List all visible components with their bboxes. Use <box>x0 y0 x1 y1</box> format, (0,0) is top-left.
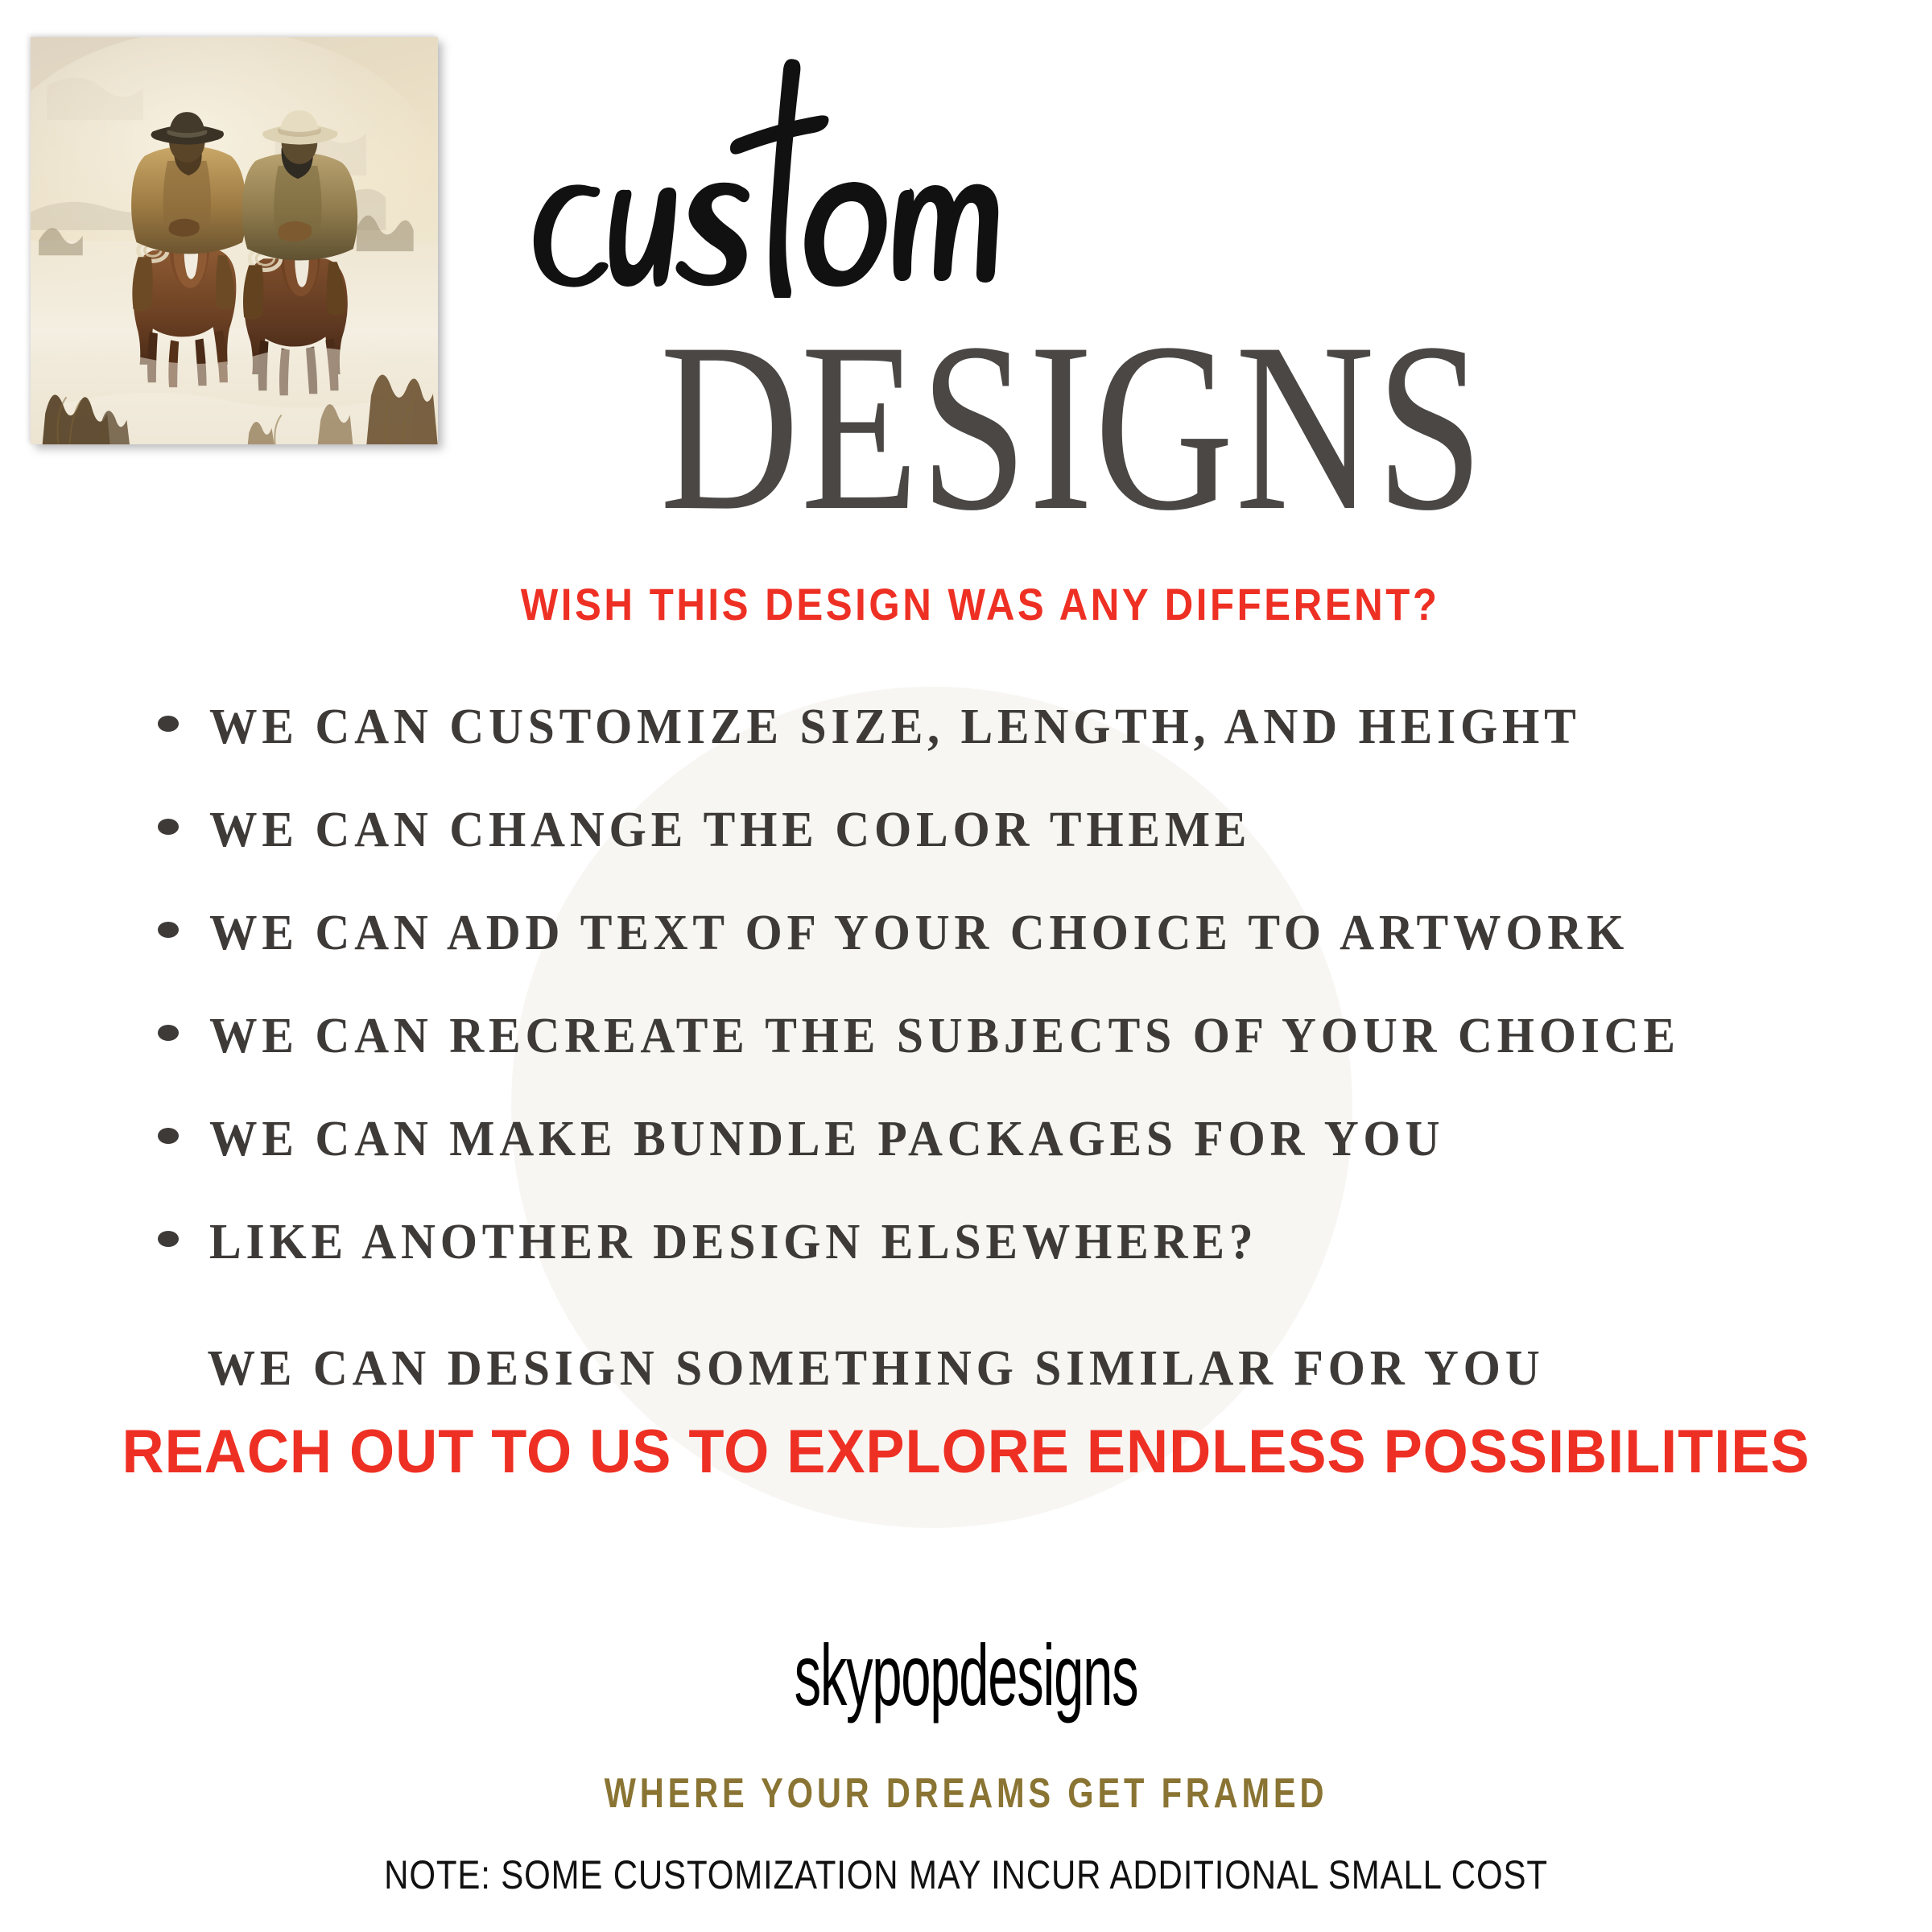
list-item: WE CAN CHANGE THE COLOR THEME <box>158 802 1848 905</box>
cowboys-painting-illustration <box>31 37 438 444</box>
bullet-dot-icon <box>158 1128 179 1144</box>
list-item-label: WE CAN CUSTOMIZE SIZE, LENGTH, AND HEIGH… <box>209 699 1581 756</box>
list-item: LIKE ANOTHER DESIGN ELSEWHERE? <box>158 1214 1848 1317</box>
artwork-thumbnail[interactable] <box>31 37 438 444</box>
list-item: WE CAN CUSTOMIZE SIZE, LENGTH, AND HEIGH… <box>158 699 1848 802</box>
promo-poster: DESIGNS WISH THIS DESIGN WAS ANY DIFFERE… <box>0 0 1932 1932</box>
list-item-label: LIKE ANOTHER DESIGN ELSEWHERE? <box>209 1214 1257 1271</box>
brand-logo-text: skypopdesigns <box>367 1624 1565 1725</box>
list-item: WE CAN ADD TEXT OF YOUR CHOICE TO ARTWOR… <box>158 905 1848 1008</box>
brand-tagline: WHERE YOUR DREAMS GET FRAMED <box>193 1769 1739 1818</box>
call-to-action: REACH OUT TO US TO EXPLORE ENDLESS POSSI… <box>48 1417 1884 1487</box>
subtitle-question: WISH THIS DESIGN WAS ANY DIFFERENT? <box>116 578 1816 630</box>
list-item: WE CAN MAKE BUNDLE PACKAGES FOR YOU <box>158 1111 1848 1214</box>
bullet-dot-icon <box>158 819 179 835</box>
list-item-continuation: WE CAN DESIGN SOMETHING SIMILAR FOR YOU <box>158 1317 1781 1420</box>
artwork-canvas <box>31 37 438 444</box>
bullet-dot-icon <box>158 716 179 732</box>
list-item-label: WE CAN CHANGE THE COLOR THEME <box>209 802 1251 859</box>
feature-list: WE CAN CUSTOMIZE SIZE, LENGTH, AND HEIGH… <box>158 699 1848 1420</box>
list-item-label: WE CAN ADD TEXT OF YOUR CHOICE TO ARTWOR… <box>209 905 1629 962</box>
bullet-dot-icon <box>158 922 179 938</box>
list-item-label: WE CAN MAKE BUNDLE PACKAGES FOR YOU <box>209 1111 1444 1168</box>
custom-brush-lettering <box>451 48 1336 298</box>
footer-note: NOTE: SOME CUSTOMIZATION MAY INCUR ADDIT… <box>155 1851 1777 1898</box>
list-item: WE CAN RECREATE THE SUBJECTS OF YOUR CHO… <box>158 1008 1848 1111</box>
custom-script-wordmark <box>451 48 1336 298</box>
list-item-label: WE CAN RECREATE THE SUBJECTS OF YOUR CHO… <box>209 1008 1680 1065</box>
bullet-dot-icon <box>158 1025 179 1041</box>
bullet-dot-icon <box>158 1231 179 1247</box>
